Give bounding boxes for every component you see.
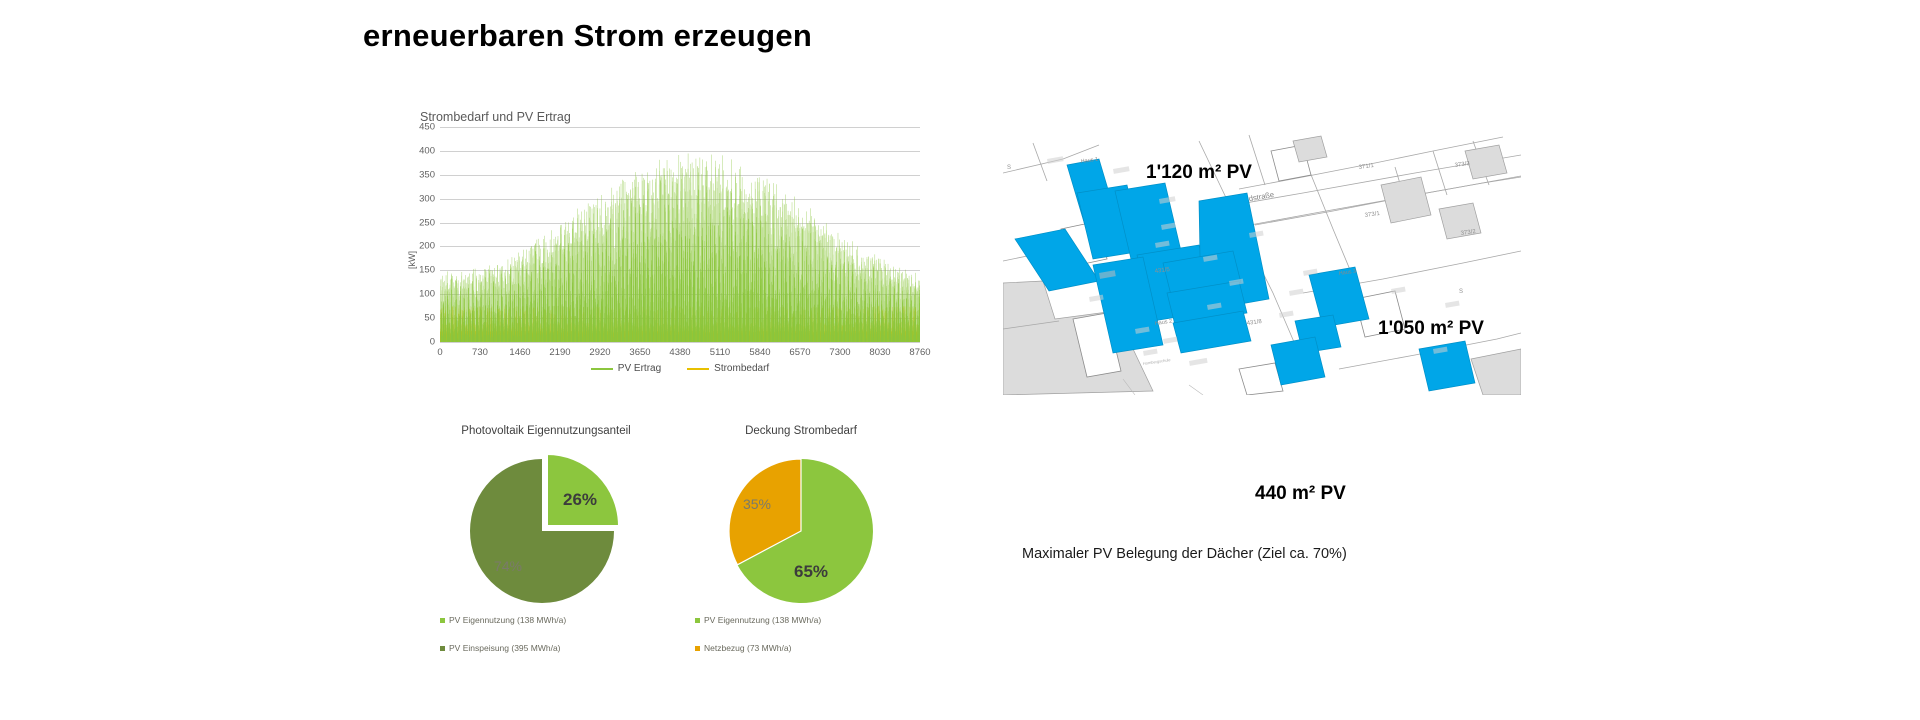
pie-chart-eigennutzungsanteil: Photovoltaik Eigennutzungsanteil 26% 74%… [416, 425, 676, 685]
pie-2-value-eigennutzung: 65% [794, 562, 828, 581]
timeseries-y-tick-label: 450 [419, 122, 435, 133]
map-svg: .pl { fill:none; stroke:#a8a8a8; stroke-… [1003, 133, 1521, 395]
timeseries-x-tick-label: 6570 [789, 347, 810, 358]
pv-roof-10 [1271, 337, 1325, 385]
timeseries-plot-area: 050100150200250300350400450 073014602190… [440, 127, 920, 342]
timeseries-y-tick-label: 50 [424, 313, 435, 324]
map-caption: Maximaler PV Belegung der Dächer (Ziel c… [1022, 546, 1347, 562]
timeseries-chart-title: Strombedarf und PV Ertrag [420, 110, 571, 124]
timeseries-x-tick-label: 8030 [869, 347, 890, 358]
timeseries-x-tick-label: 5110 [710, 347, 730, 358]
legend-label: PV Ertrag [618, 363, 661, 374]
timeseries-y-tick-label: 150 [419, 265, 435, 276]
pie-chart-1-legend: PV Eigennutzung (138 MWh/a)PV Einspeisun… [440, 615, 670, 671]
timeseries-y-tick-label: 250 [419, 217, 435, 228]
timeseries-y-tick-label: 350 [419, 169, 435, 180]
pie-2-svg: 65% 35% [711, 447, 891, 605]
map-label-marker-s-right: S [1459, 289, 1463, 295]
pie-chart-2-title: Deckung Strombedarf [671, 425, 931, 437]
pie-legend-item: PV Einspeisung (395 MWh/a) [440, 643, 670, 653]
legend-color-swatch [440, 618, 445, 623]
timeseries-x-tick-label: 2920 [589, 347, 610, 358]
pie-chart-1-title: Photovoltaik Eigennutzungsanteil [416, 425, 676, 437]
pie-chart-2-legend: PV Eigennutzung (138 MWh/a)Netzbezug (73… [695, 615, 925, 671]
legend-label: PV Einspeisung (395 MWh/a) [449, 643, 561, 653]
pie-legend-item: Netzbezug (73 MWh/a) [695, 643, 925, 653]
pie-chart-2-graphic: 65% 35% [671, 447, 931, 607]
timeseries-y-axis-label: [kW] [407, 230, 417, 290]
pie-chart-deckung-strombedarf: Deckung Strombedarf 65% 35% PV Eigennutz… [671, 425, 931, 685]
pv-roof-map: .pl { fill:none; stroke:#a8a8a8; stroke-… [1003, 133, 1521, 395]
timeseries-y-tick-label: 100 [419, 289, 435, 300]
legend-color-swatch [591, 368, 613, 370]
timeseries-x-tick-label: 7300 [829, 347, 850, 358]
page-title: erneuerbaren Strom erzeugen [363, 18, 812, 54]
timeseries-x-tick-label: 730 [472, 347, 488, 358]
timeseries-legend-item: Strombedarf [687, 363, 769, 374]
legend-color-swatch [695, 646, 700, 651]
charts-panel: Strombedarf und PV Ertrag [kW] 050100150… [396, 105, 976, 690]
timeseries-y-tick-label: 0 [430, 337, 435, 348]
timeseries-y-tick-label: 400 [419, 145, 435, 156]
timeseries-x-tick-label: 5840 [749, 347, 770, 358]
map-figure: .pl { fill:none; stroke:#a8a8a8; stroke-… [1003, 133, 1521, 395]
map-callout-1120: 1'120 m² PV [1146, 162, 1252, 184]
legend-color-swatch [687, 368, 709, 370]
timeseries-chart: Strombedarf und PV Ertrag [kW] 050100150… [396, 105, 956, 400]
pie-legend-item: PV Eigennutzung (138 MWh/a) [695, 615, 925, 625]
timeseries-legend-item: PV Ertrag [591, 363, 661, 374]
pie-chart-1-graphic: 26% 74% [416, 447, 676, 607]
legend-color-swatch [695, 618, 700, 623]
timeseries-x-tick-label: 0 [437, 347, 442, 358]
legend-label: Netzbezug (73 MWh/a) [704, 643, 791, 653]
timeseries-x-tick-label: 2190 [549, 347, 570, 358]
pie-1-value-einspeisung: 74% [494, 558, 522, 574]
legend-label: PV Eigennutzung (138 MWh/a) [704, 615, 821, 625]
timeseries-x-tick-label: 3650 [629, 347, 650, 358]
timeseries-x-tick-label: 8760 [909, 347, 930, 358]
timeseries-x-tick-label: 1460 [509, 347, 530, 358]
timeseries-legend: PV ErtragStrombedarf [440, 363, 920, 374]
map-callout-440: 440 m² PV [1255, 483, 1346, 505]
pie-1-value-eigennutzung: 26% [563, 490, 597, 509]
legend-label: Strombedarf [714, 363, 769, 374]
timeseries-x-tick-label: 4380 [669, 347, 690, 358]
timeseries-y-tick-label: 200 [419, 241, 435, 252]
legend-label: PV Eigennutzung (138 MWh/a) [449, 615, 566, 625]
pie-2-value-netzbezug: 35% [743, 496, 771, 512]
map-label-marker-s-left: S [1007, 165, 1011, 171]
map-callout-1050: 1'050 m² PV [1378, 318, 1484, 340]
timeseries-y-tick-label: 300 [419, 193, 435, 204]
pie-legend-item: PV Eigennutzung (138 MWh/a) [440, 615, 670, 625]
timeseries-data-canvas [440, 127, 920, 342]
pie-1-svg: 26% 74% [456, 447, 636, 605]
legend-color-swatch [440, 646, 445, 651]
timeseries-gridline [440, 342, 920, 343]
